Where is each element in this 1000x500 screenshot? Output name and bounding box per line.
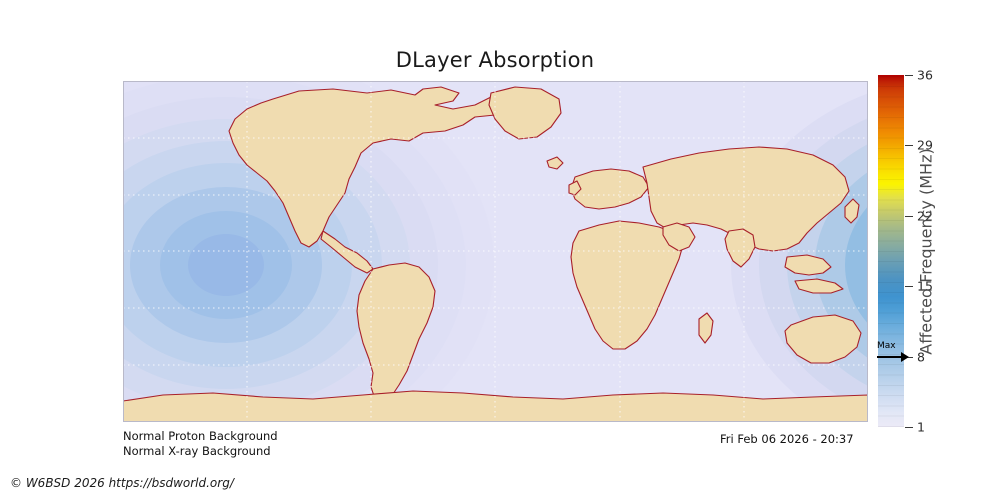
colorbar-tick-1 <box>905 427 913 428</box>
max-marker-label: Max <box>877 341 896 351</box>
colorbar-tick-15 <box>905 286 913 287</box>
map-canvas <box>123 81 868 422</box>
max-marker: Max <box>875 341 911 367</box>
xray-background-note: Normal X-ray Background <box>123 444 278 459</box>
timestamp: Fri Feb 06 2026 - 20:37 <box>720 432 854 446</box>
status-notes: Normal Proton Background Normal X-ray Ba… <box>123 429 278 458</box>
colorbar-gradient <box>878 75 904 427</box>
copyright-notice: © W6BSD 2026 https://bsdworld.org/ <box>10 476 234 490</box>
colorbar: 36 29 22 15 8 1 <box>878 75 904 427</box>
colorbar-axis-label: Affected Frequency (MHz) <box>916 75 936 427</box>
page-title: DLayer Absorption <box>0 48 990 72</box>
colorbar-axis-label-text: Affected Frequency (MHz) <box>917 148 936 354</box>
proton-background-note: Normal Proton Background <box>123 429 278 444</box>
colorbar-tick-36 <box>905 75 913 76</box>
world-map <box>123 81 868 422</box>
colorbar-tick-22 <box>905 216 913 217</box>
colorbar-tick-29 <box>905 145 913 146</box>
